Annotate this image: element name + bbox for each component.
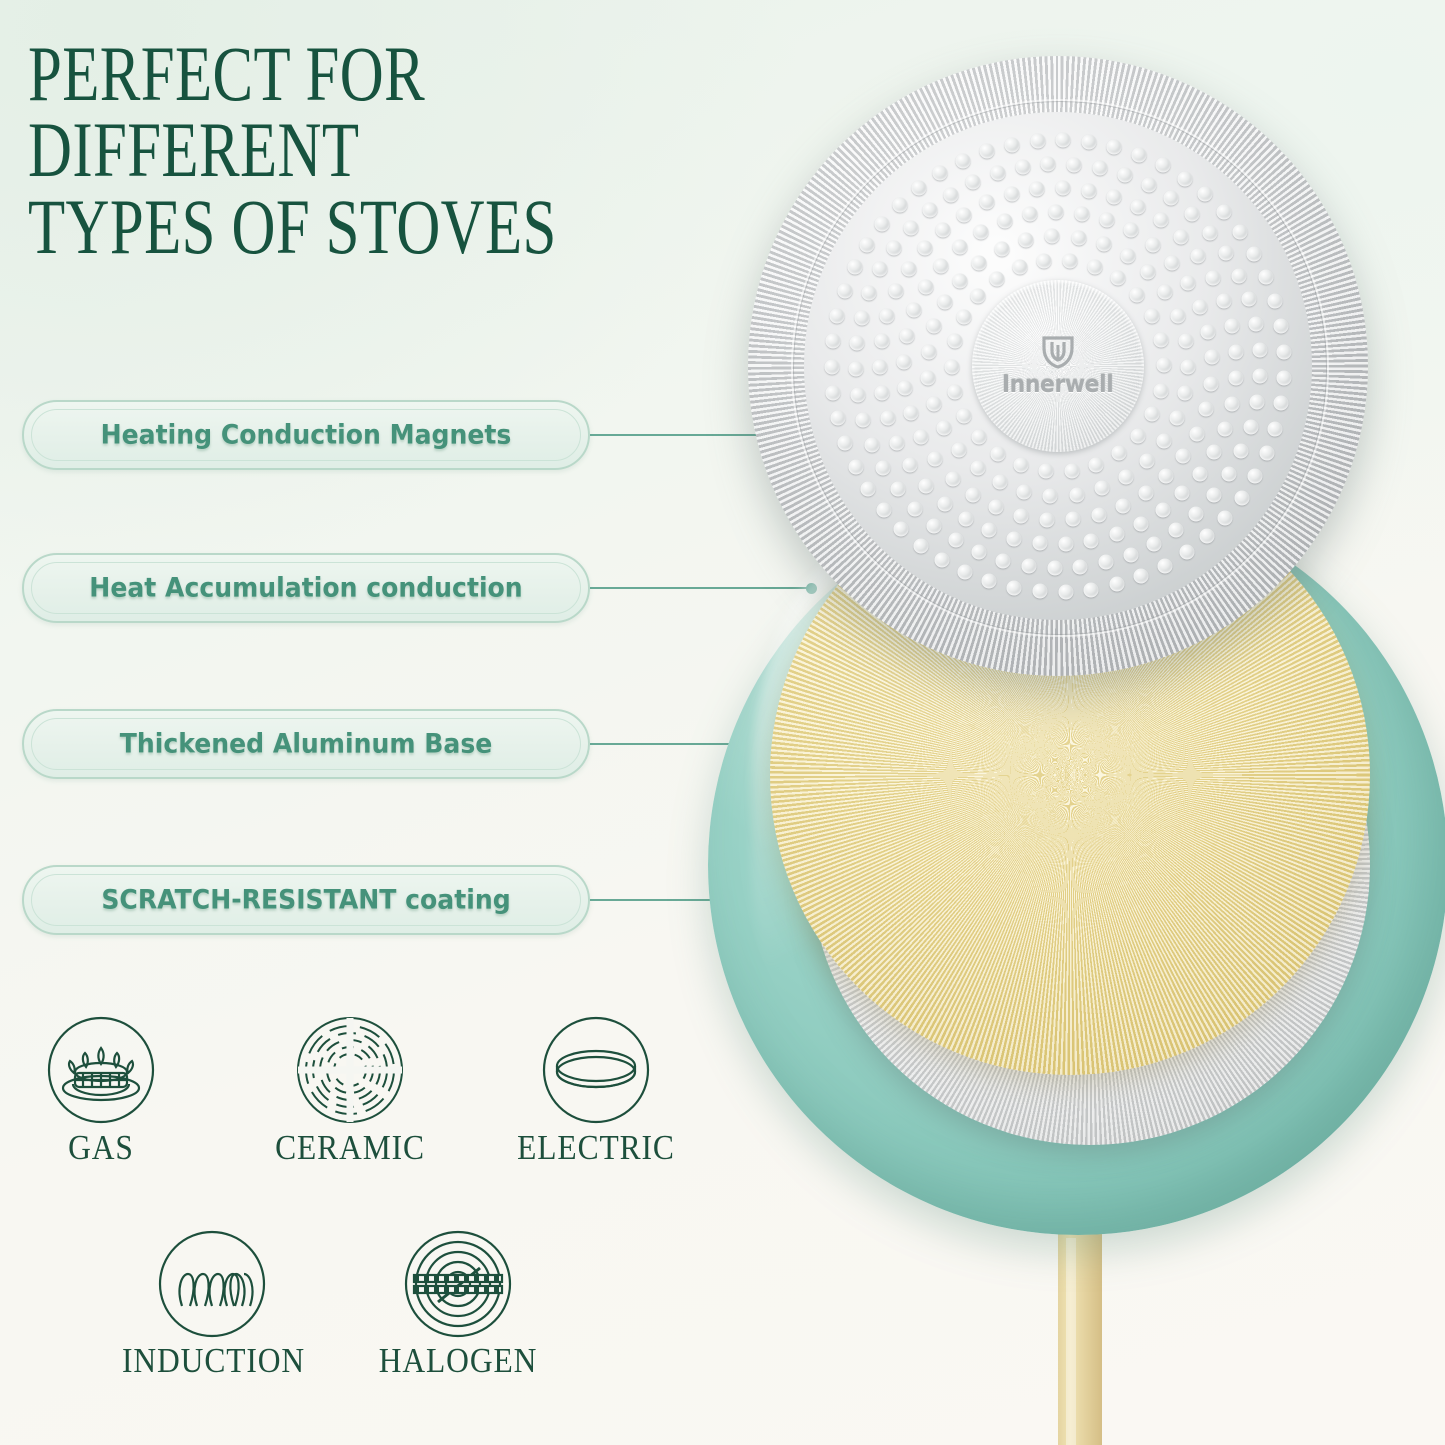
- brand-name: Innerwell: [1002, 372, 1113, 398]
- feature-label: Heating Conduction Magnets: [44, 420, 569, 451]
- electric-hotplate-icon: [540, 1014, 652, 1126]
- shield-w-logo: [1038, 335, 1078, 369]
- feature-pill-heating-conduction-magnets: Heating Conduction Magnets: [22, 400, 590, 470]
- feature-label: SCRATCH-RESISTANT coating: [44, 885, 569, 916]
- stove-type-label-ceramic: CERAMIC: [260, 1128, 440, 1168]
- title-line-3: TYPES OF STOVES: [28, 189, 621, 265]
- feature-label: Heat Accumulation conduction: [44, 573, 569, 604]
- feature-pill-thickened-aluminum-base: Thickened Aluminum Base: [22, 709, 590, 779]
- page-title: PERFECT FOR DIFFERENT TYPES OF STOVES: [28, 36, 621, 265]
- feature-pill-heat-accumulation-conduction: Heat Accumulation conduction: [22, 553, 590, 623]
- ceramic-hob-icon: [294, 1014, 406, 1126]
- stove-type-label-halogen: HALOGEN: [368, 1341, 548, 1381]
- stove-type-label-electric: ELECTRIC: [506, 1128, 686, 1168]
- magnetic-steel-disc: Innerwell: [748, 56, 1368, 676]
- title-line-2: DIFFERENT: [28, 112, 621, 188]
- induction-coil-icon: [156, 1228, 268, 1340]
- stove-type-label-gas: GAS: [11, 1128, 191, 1168]
- infographic-canvas: PERFECT FOR DIFFERENT TYPES OF STOVES He…: [0, 0, 1445, 1445]
- gas-burner-icon: [45, 1014, 157, 1126]
- halogen-element-icon: [402, 1228, 514, 1340]
- title-line-1: PERFECT FOR: [28, 36, 621, 112]
- product-exploded-view: Innerwell: [660, 20, 1445, 1445]
- brand-medallion: Innerwell: [972, 280, 1144, 452]
- feature-pill-scratch-resistant-coating: SCRATCH-RESISTANT coating: [22, 865, 590, 935]
- feature-label: Thickened Aluminum Base: [44, 729, 569, 760]
- stove-type-label-induction: INDUCTION: [122, 1341, 302, 1381]
